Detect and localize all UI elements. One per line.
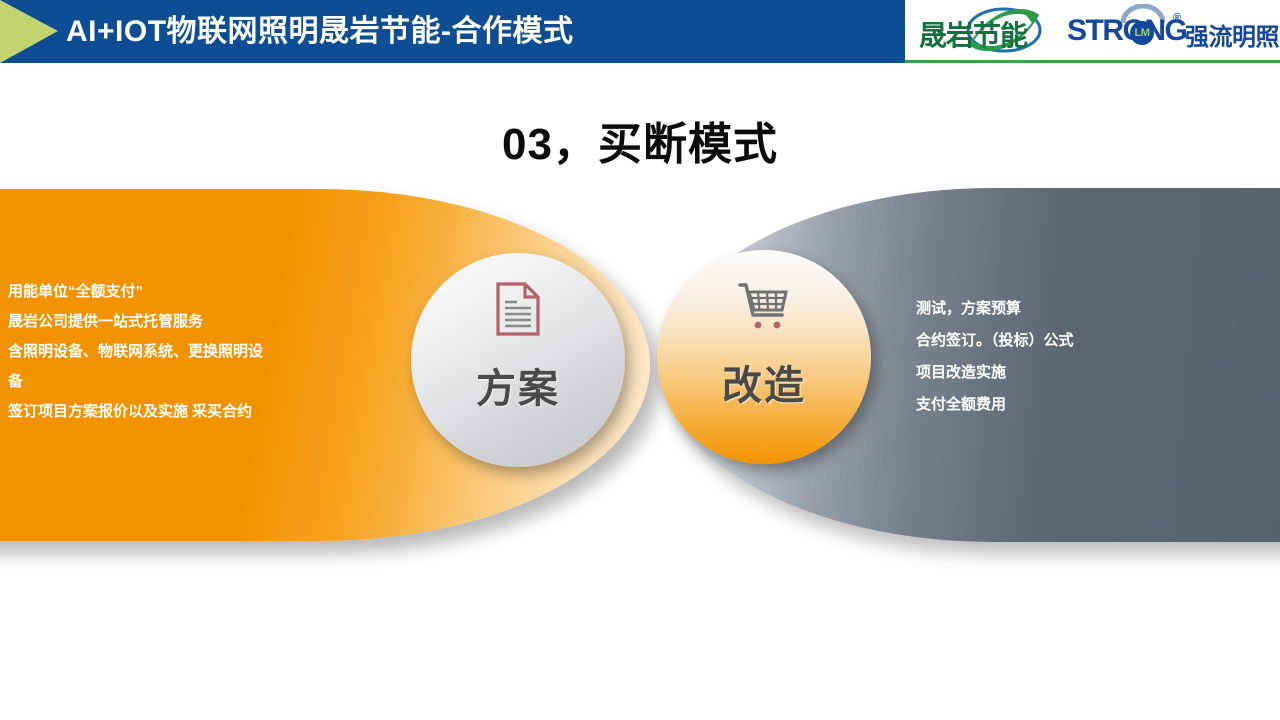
left-panel-line: 晟岩公司提供一站式托管服务: [8, 307, 358, 337]
registered-mark: ®: [1173, 12, 1181, 24]
document-icon: [495, 280, 541, 338]
left-panel-text: 用能单位“全额支付” 晟岩公司提供一站式托管服务 含照明设备、物联网系统、更换照…: [8, 277, 358, 427]
plan-circle[interactable]: 方案: [411, 253, 625, 467]
right-panel-text: 测试，方案预算 合约签订。（投标）公式 项目改造实施 支付全额费用: [916, 293, 1246, 421]
left-panel-line: 签订项目方案报价以及实施 采买合约: [8, 397, 358, 427]
logo-brand-cn: 晟岩节能: [919, 14, 1027, 54]
shopping-cart-icon: [737, 277, 791, 335]
header-title: AI+IOT物联网照明晟岩节能-合作模式: [66, 0, 574, 63]
plan-circle-label: 方案: [476, 356, 560, 414]
left-panel-line: 用能单位“全额支付”: [8, 277, 358, 307]
renovate-circle[interactable]: 改造: [657, 250, 871, 464]
brand-logo-inner: 晟岩节能 STRONG LM ® 强流明照明: [915, 4, 1280, 58]
right-panel-line: 项目改造实施: [916, 357, 1246, 389]
logo-brand-en: STRONG: [1067, 14, 1186, 48]
left-panel-line: 含照明设备、物联网系统、更换照明设: [8, 337, 358, 367]
brand-logo: 晟岩节能 STRONG LM ® 强流明照明: [905, 0, 1280, 63]
right-panel-line: 测试，方案预算: [916, 293, 1246, 325]
right-panel-line: 合约签订。（投标）公式: [916, 325, 1246, 357]
page-title: 03，买断模式: [0, 108, 1280, 172]
logo-lm-badge-text: LM: [1135, 28, 1150, 39]
diagram-area: 用能单位“全额支付” 晟岩公司提供一站式托管服务 含照明设备、物联网系统、更换照…: [0, 180, 1280, 560]
renovate-circle-label: 改造: [722, 353, 806, 411]
right-panel-line: 支付全额费用: [916, 389, 1246, 421]
logo-brand-cn2: 强流明照明: [1185, 17, 1280, 52]
logo-lm-badge: LM: [1130, 21, 1154, 45]
left-panel-line: 备: [8, 367, 358, 397]
chevron-right-icon: [0, 0, 58, 63]
